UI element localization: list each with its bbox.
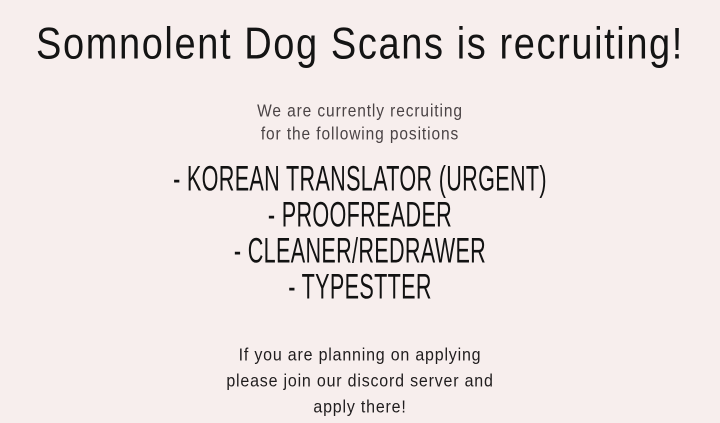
footer-line-2: please join our discord server and [226,368,493,397]
footer-line-3: apply there! [226,394,493,423]
recruitment-poster: Somnolent Dog Scans is recruiting! We ar… [0,0,720,405]
open-positions-list: - KOREAN TRANSLATOR (URGENT) - PROOFREAD… [0,166,720,301]
subtitle-block: We are currently recruiting for the foll… [257,101,463,146]
list-item: - PROOFREADER [72,198,648,233]
footer-line-1: If you are planning on applying [226,342,493,371]
footer-block: If you are planning on applying please j… [226,343,493,421]
page-title: Somnolent Dog Scans is recruiting! [0,22,720,69]
subtitle-line-2: for the following positions [257,122,463,147]
list-item: - CLEANER/REDRAWER [72,234,648,269]
list-item: - TYPESTTER [72,270,648,305]
subtitle-line-1: We are currently recruiting [257,100,463,125]
list-item: - KOREAN TRANSLATOR (URGENT) [72,162,648,197]
